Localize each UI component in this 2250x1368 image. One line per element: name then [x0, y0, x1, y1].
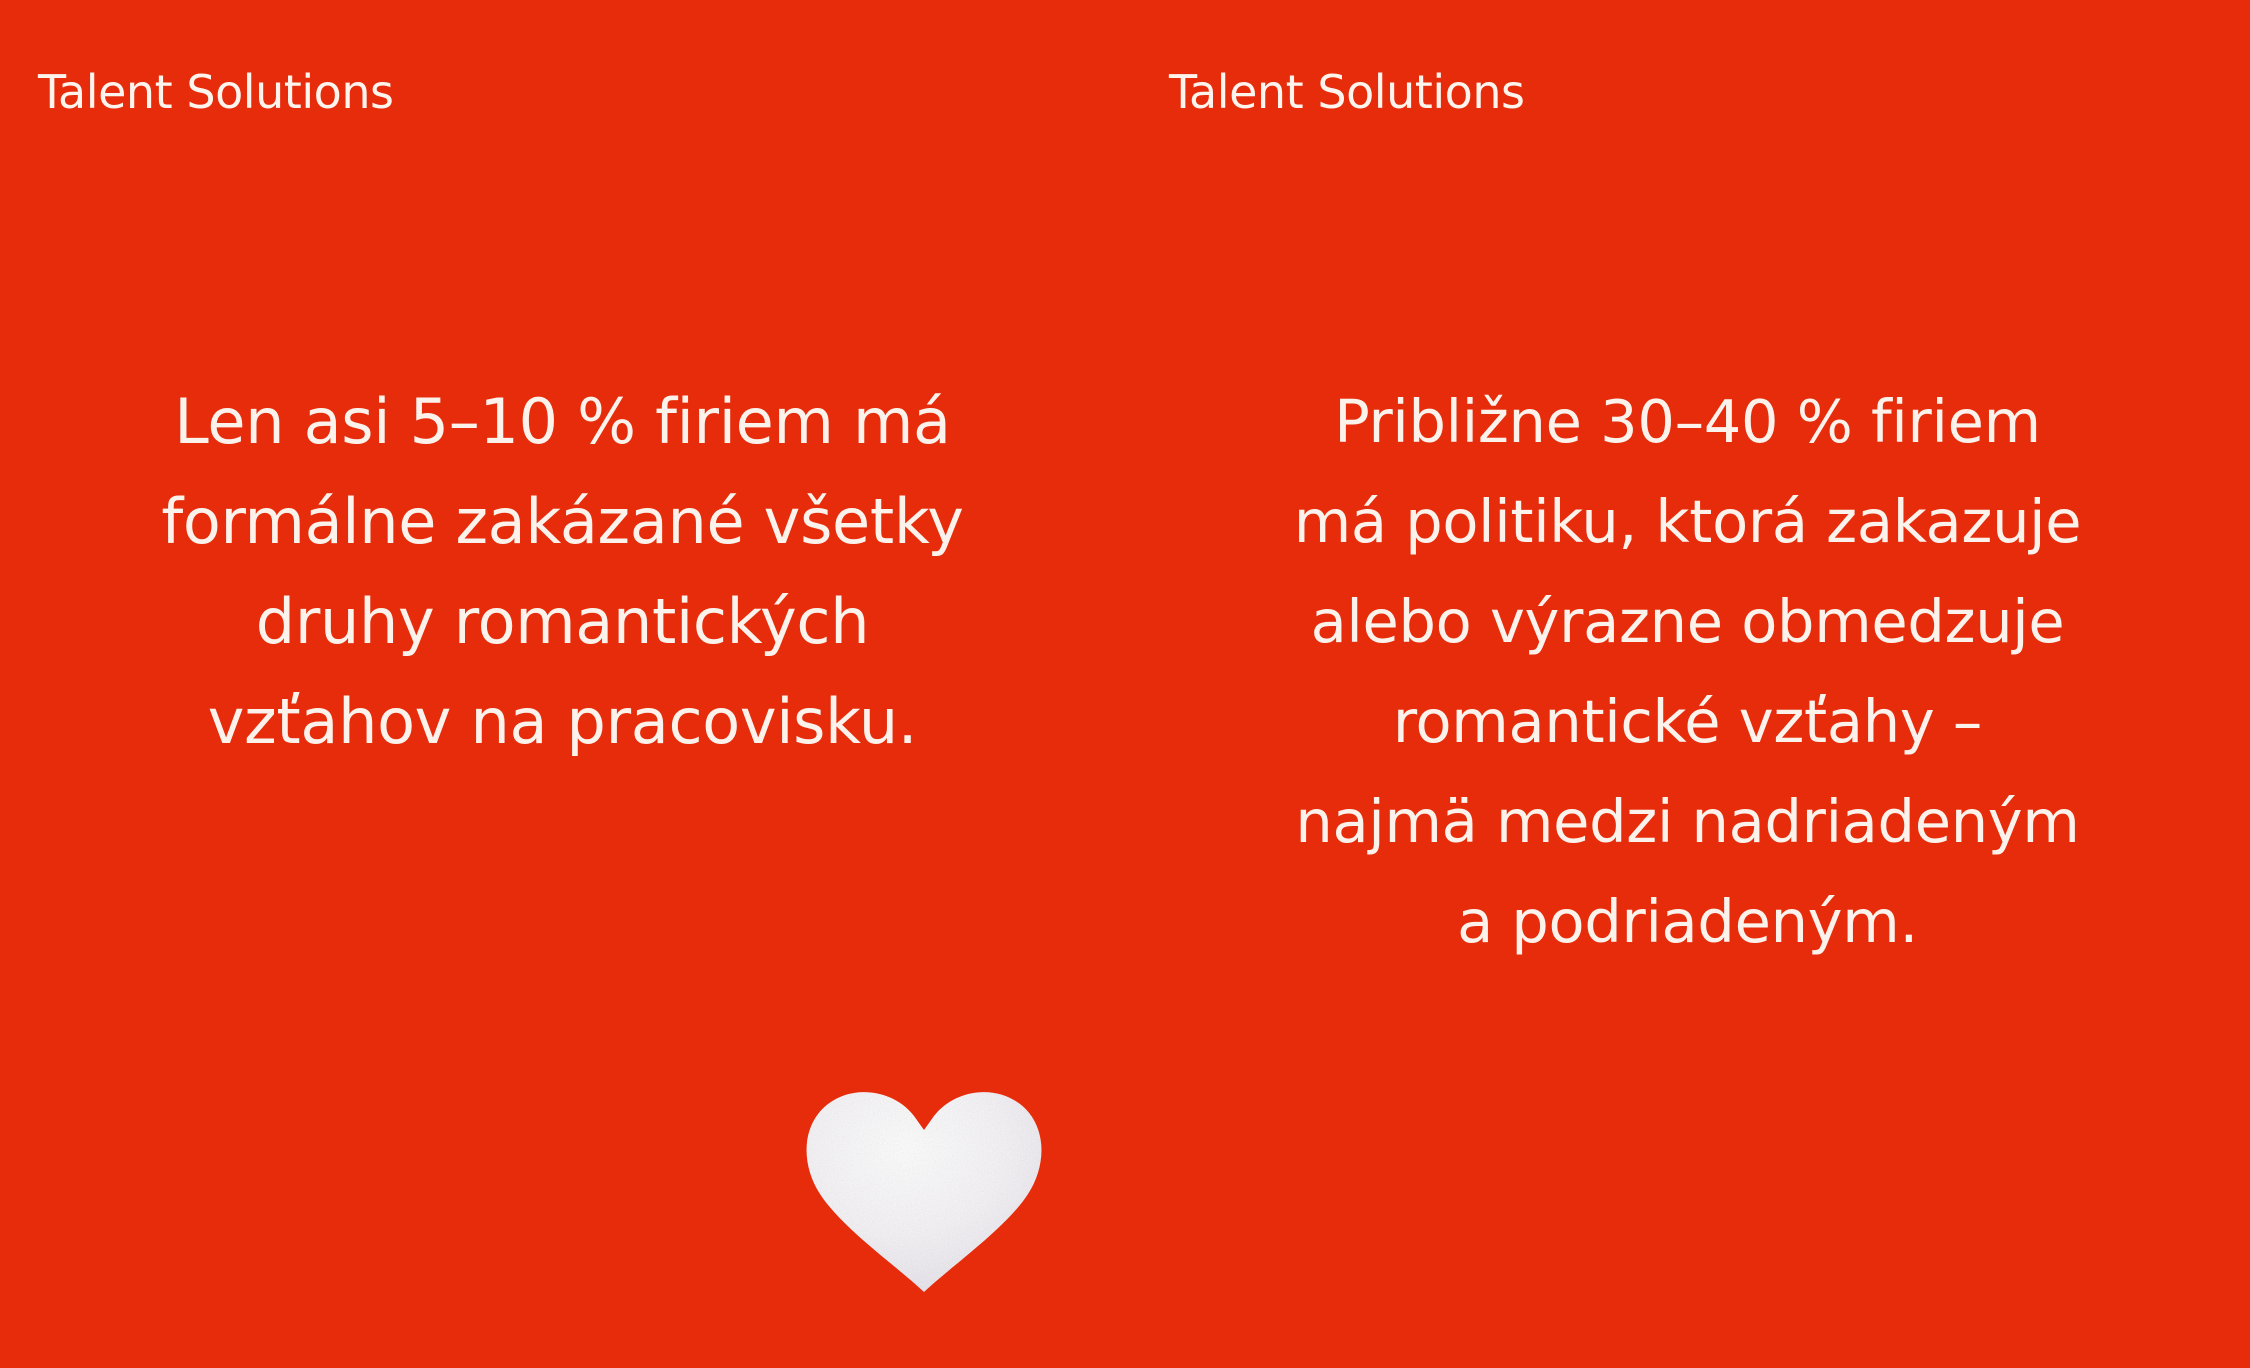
statistic-line: formálne zakázané všetky	[0, 472, 1125, 572]
statistic-line: má politiku, ktorá zakazuje	[1125, 472, 2250, 572]
statistic-text-block-left: Len asi 5–10 % firiem má formálne zakáza…	[0, 372, 1125, 772]
statistic-line: Približne 30–40 % firiem	[1125, 372, 2250, 472]
statistic-line: Len asi 5–10 % firiem má	[0, 372, 1125, 472]
brand-logo-talent-solutions: Talent Solutions	[38, 66, 394, 119]
slide-panel-right: Talent Solutions Približne 30–40 % firie…	[1125, 0, 2250, 1368]
heart-icon	[798, 1078, 1050, 1302]
slide-pair-canvas: Talent Solutions Len asi 5–10 % firiem m…	[0, 0, 2250, 1368]
statistic-line: vzťahov na pracovisku.	[0, 672, 1125, 772]
slide-panel-left: Talent Solutions Len asi 5–10 % firiem m…	[0, 0, 1125, 1368]
statistic-line: romantické vzťahy –	[1125, 672, 2250, 772]
statistic-line: a podriadeným.	[1125, 872, 2250, 972]
brand-logo-talent-solutions: Talent Solutions	[1169, 66, 1525, 119]
statistic-text-block-right: Približne 30–40 % firiem má politiku, kt…	[1125, 372, 2250, 972]
statistic-line: alebo výrazne obmedzuje	[1125, 572, 2250, 672]
statistic-line: druhy romantických	[0, 572, 1125, 672]
statistic-line: najmä medzi nadriadeným	[1125, 772, 2250, 872]
